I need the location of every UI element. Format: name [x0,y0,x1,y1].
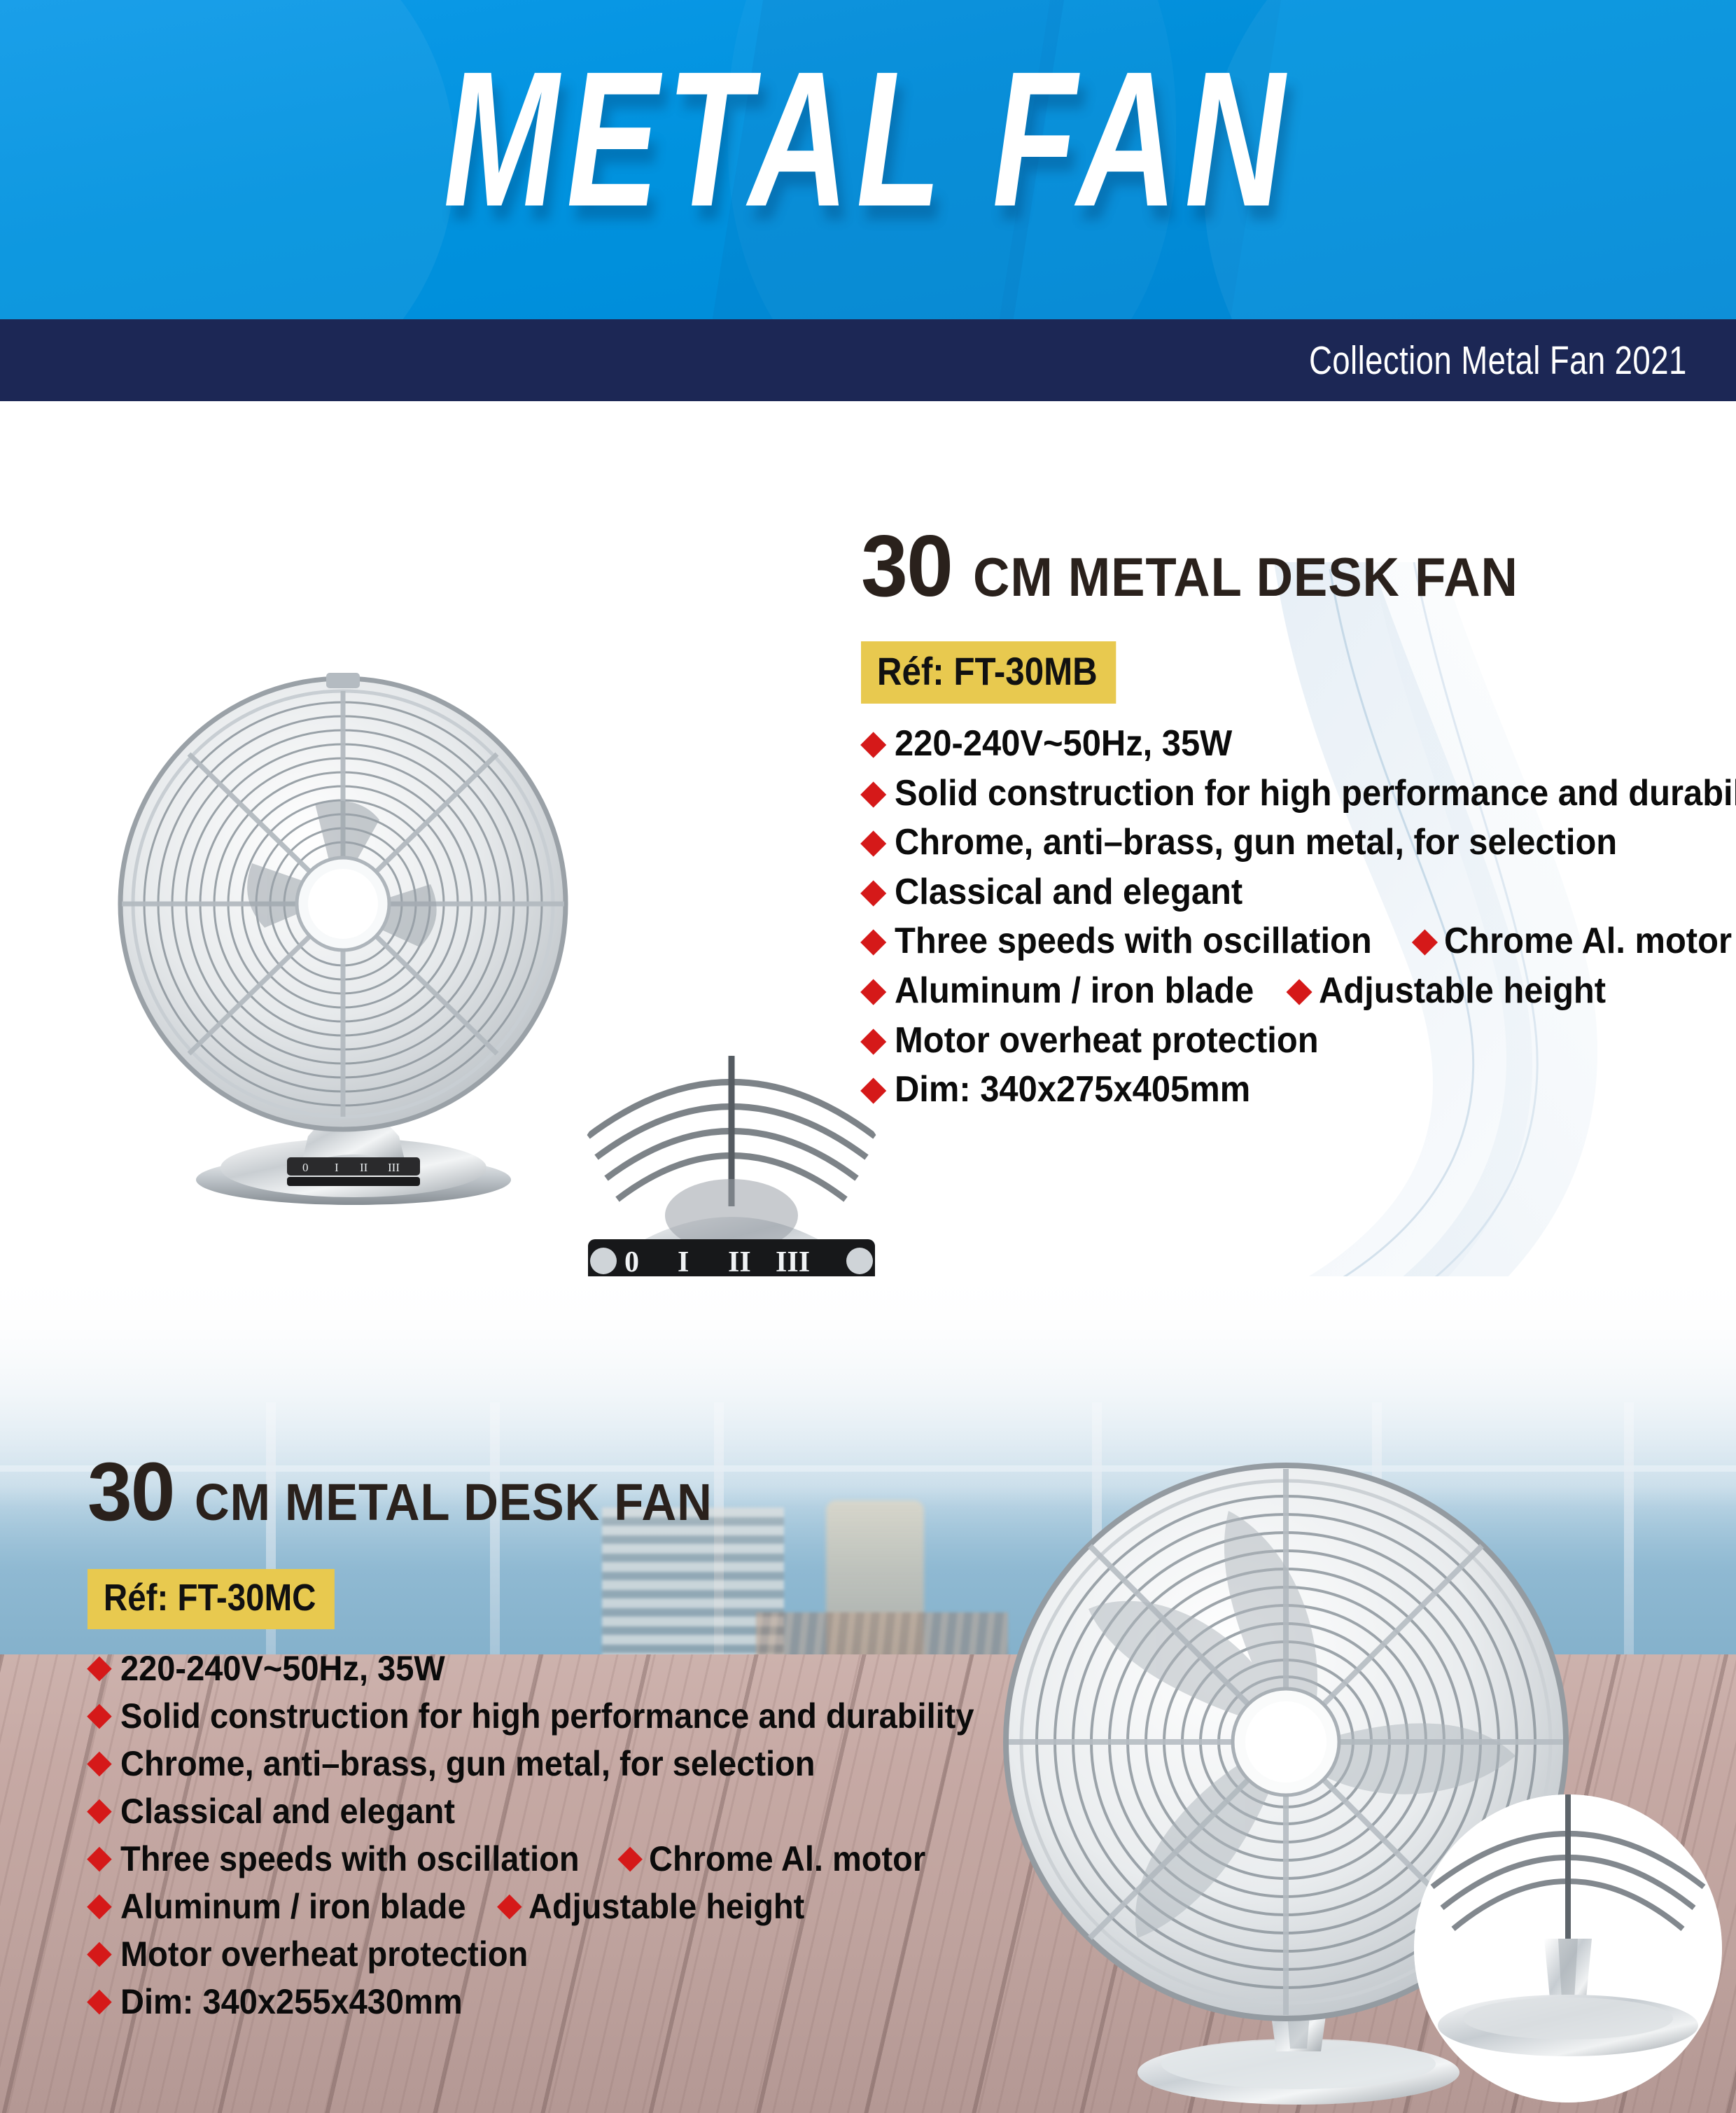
spec-item: ◆Chrome, anti–brass, gun metal, for sele… [87,1741,1011,1787]
product-2-info: 30 CM METAL DESK FAN Réf: FT-30MC ◆220-2… [87,1444,1011,2027]
diamond-bullet-icon: ◆ [1287,968,1311,1012]
spec-item: ◆Aluminum / iron blade◆Adjustable height [861,968,1736,1015]
catalog-body: 0I IIIII [0,401,1736,2113]
product-2-spec-list: ◆220-240V~50Hz, 35W ◆Solid construction … [87,1646,1011,2025]
product-1-info: 30 CM METAL DESK FAN Réf: FT-30MB ◆220-2… [861,517,1736,1116]
diamond-bullet-icon: ◆ [87,1932,111,1974]
spec-item: ◆220-240V~50Hz, 35W [87,1646,1011,1692]
diamond-bullet-icon: ◆ [618,1836,642,1878]
diamond-bullet-icon: ◆ [87,1884,111,1926]
diamond-bullet-icon: ◆ [861,1066,885,1110]
page-title: METAL FAN [69,28,1667,250]
diamond-bullet-icon: ◆ [87,1836,111,1878]
diamond-bullet-icon: ◆ [87,1646,111,1688]
diamond-bullet-icon: ◆ [87,1694,111,1736]
spec-item: ◆Solid construction for high performance… [861,770,1736,818]
collection-bar: Collection Metal Fan 2021 [0,319,1736,401]
spec-item: ◆Motor overheat protection [861,1017,1736,1065]
svg-text:0: 0 [302,1161,309,1174]
diamond-bullet-icon: ◆ [861,918,885,962]
spec-item: ◆Three speeds with oscillation◆Chrome Al… [861,918,1736,965]
spec-item: ◆Classical and elegant [87,1789,1011,1834]
svg-text:I: I [678,1246,689,1278]
spec-item: ◆Dim: 340x275x405mm [861,1066,1736,1114]
product-1-heading-rest: CM METAL DESK FAN [973,545,1518,609]
diamond-bullet-icon: ◆ [498,1884,521,1926]
product-2-heading-rest: CM METAL DESK FAN [195,1472,713,1532]
diamond-bullet-icon: ◆ [861,770,885,814]
product-2-base-detail-inset [1414,1794,1722,2102]
diamond-bullet-icon: ◆ [861,1017,885,1061]
spec-item: ◆Solid construction for high performance… [87,1694,1011,1739]
diamond-bullet-icon: ◆ [861,968,885,1012]
header-banner: METAL FAN [0,0,1736,319]
product-1-heading: 30 CM METAL DESK FAN [861,517,1736,616]
diamond-bullet-icon: ◆ [87,1979,111,2021]
spec-item: ◆Aluminum / iron blade◆Adjustable height [87,1884,1011,1930]
svg-text:I: I [335,1161,339,1174]
spec-item: ◆Classical and elegant [861,869,1736,916]
product-1-reference-badge: Réf: FT-30MB [861,641,1116,704]
spec-item: ◆Three speeds with oscillation◆Chrome Al… [87,1836,1011,1882]
product-2-size-number: 30 [87,1444,174,1540]
product-1-fan-photo: 0I IIIII [77,653,623,1213]
svg-text:II: II [728,1246,751,1278]
product-2-reference-badge: Réf: FT-30MC [87,1569,335,1629]
diamond-bullet-icon: ◆ [861,720,885,765]
diamond-bullet-icon: ◆ [1413,918,1437,962]
product-1-size-number: 30 [861,517,952,616]
product-2-heading: 30 CM METAL DESK FAN [87,1444,1011,1540]
svg-text:II: II [360,1161,368,1174]
spec-item: ◆Dim: 340x255x430mm [87,1979,1011,2025]
diamond-bullet-icon: ◆ [87,1741,111,1783]
collection-label: Collection Metal Fan 2021 [1309,337,1687,384]
spec-item: ◆Motor overheat protection [87,1932,1011,1977]
diamond-bullet-icon: ◆ [861,869,885,913]
svg-text:0: 0 [624,1246,639,1278]
diamond-bullet-icon: ◆ [87,1789,111,1831]
diamond-bullet-icon: ◆ [861,819,885,863]
spec-item: ◆Chrome, anti–brass, gun metal, for sele… [861,819,1736,867]
svg-text:III: III [388,1161,400,1174]
svg-text:III: III [776,1246,810,1278]
spec-item: ◆220-240V~50Hz, 35W [861,720,1736,768]
product-1-spec-list: ◆220-240V~50Hz, 35W ◆Solid construction … [861,720,1736,1114]
